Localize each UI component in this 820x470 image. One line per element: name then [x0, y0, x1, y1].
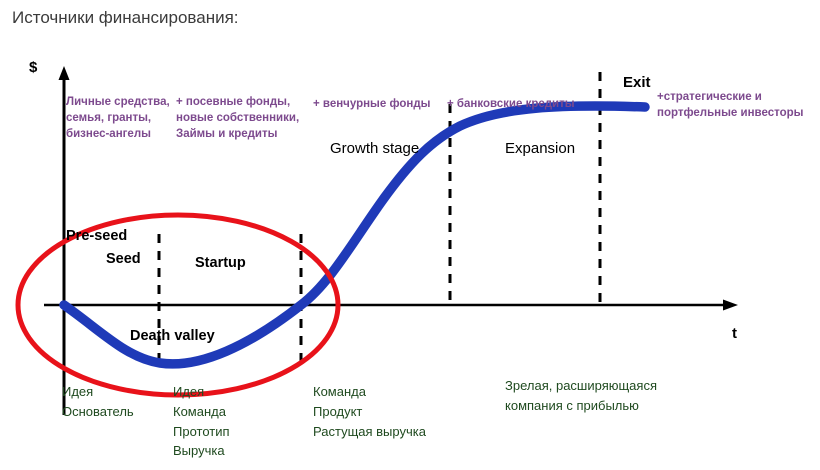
funding-source-bank: + банковские кредиты	[447, 97, 575, 113]
y-axis-label: $	[29, 59, 37, 77]
stage-label-exit: Exit	[623, 74, 651, 92]
milestone-mature-company: Зрелая, расширяющаяся компания с прибыль…	[505, 376, 657, 416]
stage-label-expansion: Expansion	[505, 140, 575, 158]
stage-label-startup: Startup	[195, 255, 246, 273]
funding-source-personal: Личные средства, семья, гранты, бизнес-а…	[66, 95, 170, 143]
milestone-team: Идея Команда Прототип Выручка	[173, 382, 230, 461]
funding-source-strategic: +стратегические и портфельные инвесторы	[657, 90, 803, 122]
funding-source-seed: + посевные фонды, новые собственники, За…	[176, 95, 299, 143]
funding-source-venture: + венчурные фонды	[313, 97, 430, 113]
y-axis-arrowhead	[59, 66, 70, 80]
diagram-canvas: Источники финансирования: $ t Личные сре…	[0, 0, 820, 470]
stage-label-pre-seed: Pre-seed	[66, 228, 127, 246]
stage-label-growth-stage: Growth stage	[330, 140, 419, 158]
stage-label-seed: Seed	[106, 251, 141, 269]
x-axis-arrowhead	[723, 300, 738, 311]
stage-label-death-valley: Death valley	[130, 328, 215, 346]
milestone-product: Команда Продукт Растущая выручка	[313, 382, 426, 441]
x-axis-label: t	[732, 325, 737, 343]
milestone-founder: Идея Основатель	[62, 382, 134, 422]
